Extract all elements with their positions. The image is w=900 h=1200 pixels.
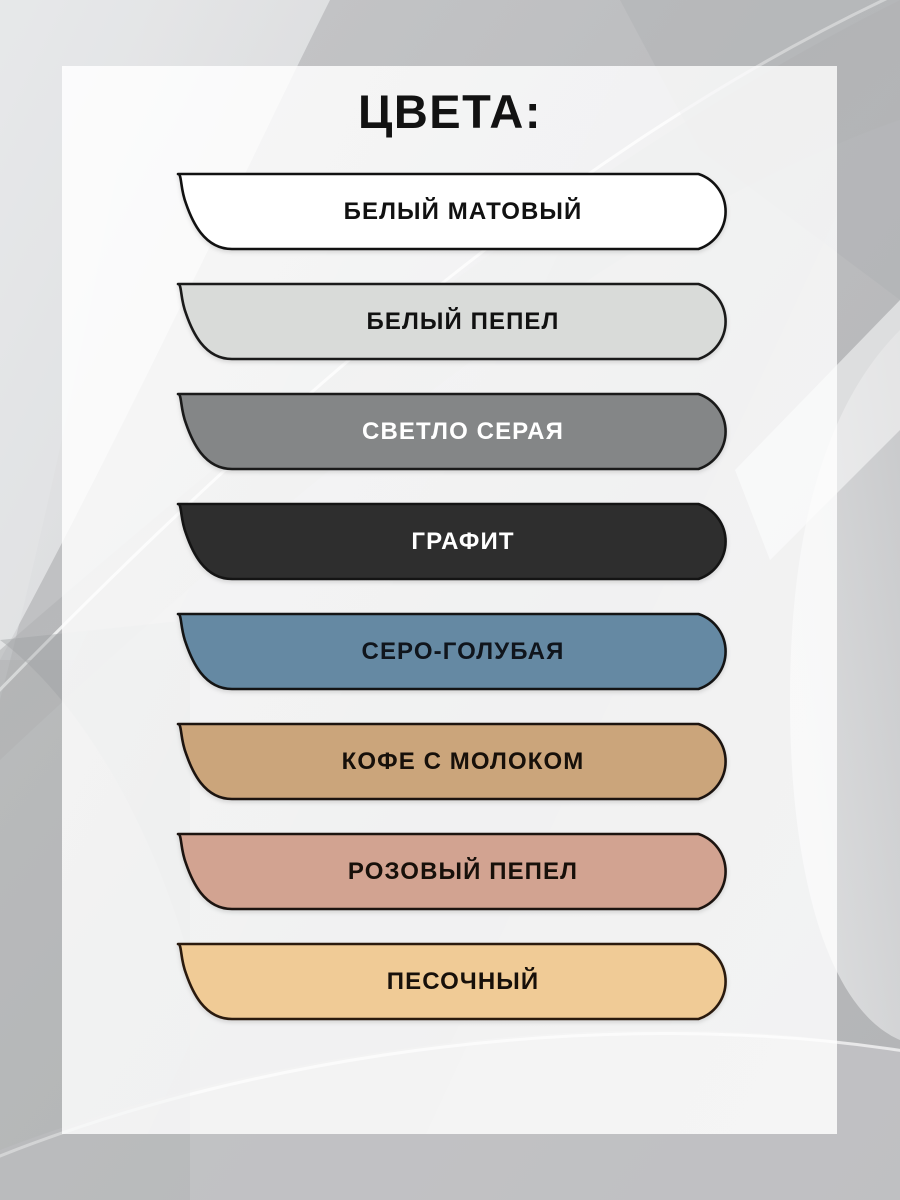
swatch-fill-grey-blue [178,614,726,689]
swatch-shape-pink-ash [170,832,738,911]
color-swatch-list: БЕЛЫЙ МАТОВЫЙБЕЛЫЙ ПЕПЕЛСВЕТЛО СЕРАЯГРАФ… [170,172,738,1021]
color-swatch-pink-ash[interactable]: РОЗОВЫЙ ПЕПЕЛ [170,832,738,911]
color-swatch-white-matte[interactable]: БЕЛЫЙ МАТОВЫЙ [170,172,738,251]
color-swatch-coffee-with-milk[interactable]: КОФЕ С МОЛОКОМ [170,722,738,801]
swatch-fill-light-grey [178,394,726,469]
page-title: ЦВЕТА: [0,88,900,135]
swatch-fill-white-ash [178,284,726,359]
swatch-fill-coffee-with-milk [178,724,726,799]
swatch-shape-sandy [170,942,738,1021]
color-swatch-sandy[interactable]: ПЕСОЧНЫЙ [170,942,738,1021]
swatch-fill-pink-ash [178,834,726,909]
color-swatch-grey-blue[interactable]: СЕРО-ГОЛУБАЯ [170,612,738,691]
color-swatch-light-grey[interactable]: СВЕТЛО СЕРАЯ [170,392,738,471]
swatch-shape-white-matte [170,172,738,251]
swatch-fill-sandy [178,944,726,1019]
swatch-shape-grey-blue [170,612,738,691]
color-swatch-graphite[interactable]: ГРАФИТ [170,502,738,581]
color-swatch-white-ash[interactable]: БЕЛЫЙ ПЕПЕЛ [170,282,738,361]
swatch-shape-light-grey [170,392,738,471]
color-palette-poster: ЦВЕТА: БЕЛЫЙ МАТОВЫЙБЕЛЫЙ ПЕПЕЛСВЕТЛО СЕ… [0,0,900,1200]
swatch-shape-coffee-with-milk [170,722,738,801]
swatch-fill-white-matte [178,174,726,249]
swatch-fill-graphite [178,504,726,579]
swatch-shape-graphite [170,502,738,581]
swatch-shape-white-ash [170,282,738,361]
